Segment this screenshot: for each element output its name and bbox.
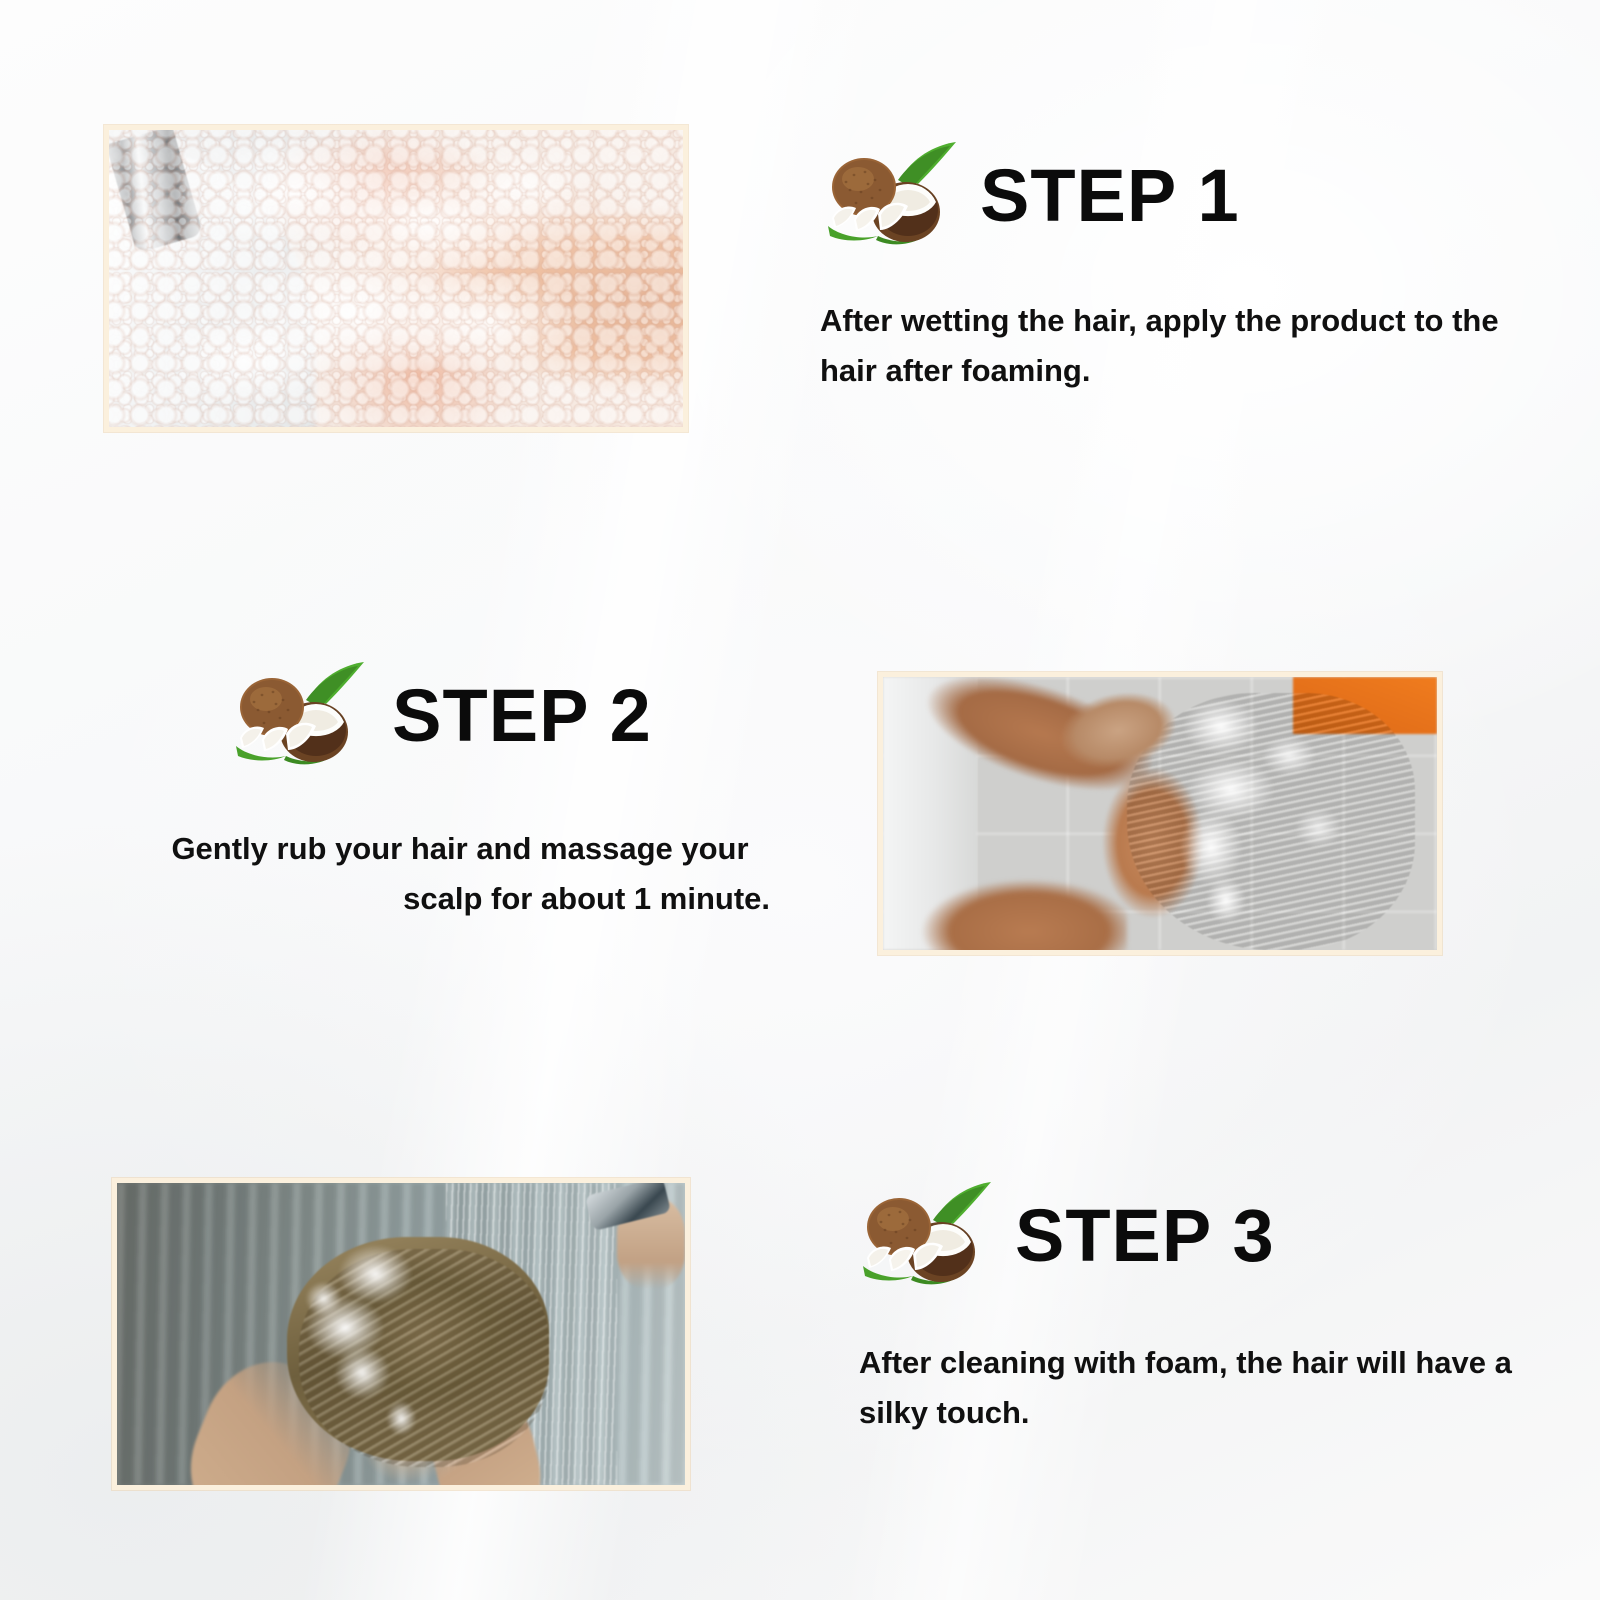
step-2-description-line-2: scalp for about 1 minute. [120,874,800,924]
photo-inner [883,677,1437,950]
step-3-block: STEP 3 After cleaning with foam, the hai… [845,1180,1535,1438]
hands-with-foam-photo [104,125,688,432]
coconut-icon [820,140,970,252]
coconut-icon [855,1180,1005,1292]
step-3-title: STEP 3 [1015,1199,1275,1273]
photo-inner [117,1183,685,1485]
step-2-heading: STEP 2 [120,660,800,772]
instruction-page: STEP 1 After wetting the hair, apply the… [0,0,1600,1600]
rinsing-hair-in-shower-photo [112,1178,690,1490]
shampoo-foam [1138,693,1382,933]
step-1-description: After wetting the hair, apply the produc… [820,296,1500,396]
step-2-title: STEP 2 [392,679,652,753]
foam-bubbles [109,130,683,427]
coconut-icon [228,660,378,772]
step-3-description: After cleaning with foam, the hair will … [845,1338,1535,1438]
step-3-heading: STEP 3 [845,1180,1535,1292]
shampoo-foam [276,1237,492,1442]
step-2-block: STEP 2 Gently rub your hair and massage … [120,660,800,924]
photo-inner [109,130,683,427]
step-2-description-line-1: Gently rub your hair and massage your [120,824,800,874]
step-1-block: STEP 1 After wetting the hair, apply the… [820,140,1500,396]
shampooing-dark-hair-photo [878,672,1442,955]
step-1-heading: STEP 1 [820,140,1500,252]
step-2-description: Gently rub your hair and massage your sc… [120,824,800,924]
step-1-title: STEP 1 [980,159,1240,233]
